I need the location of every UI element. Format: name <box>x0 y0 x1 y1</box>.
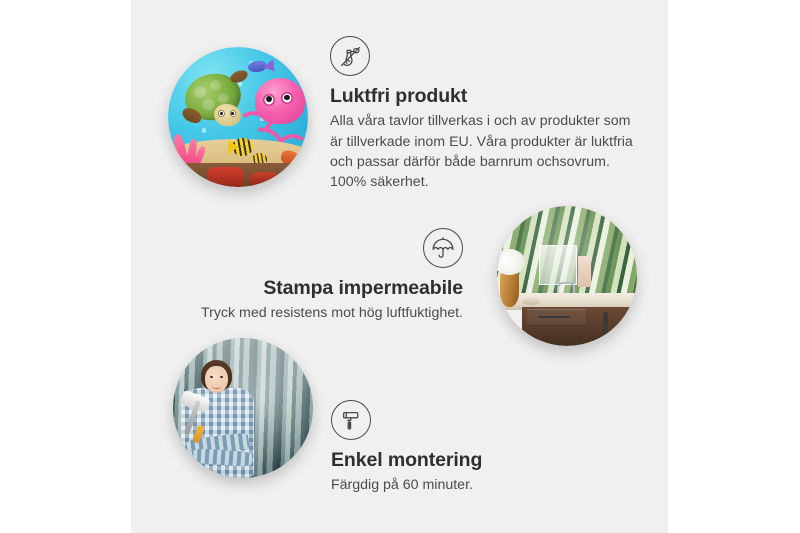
feature-waterproof: Stampa impermeabile Tryck med resistens … <box>178 228 463 324</box>
decorative-vase <box>500 270 520 306</box>
underwater-kids-mural-image <box>168 47 308 187</box>
white-flowers <box>497 249 525 274</box>
feature-description: Alla våra tavlor tillverkas i och av pro… <box>330 111 634 192</box>
smile <box>212 383 222 389</box>
product-feature-banner: Luktfri produkt Alla våra tavlor tillver… <box>0 0 800 533</box>
no-fragrance-icon <box>330 36 370 76</box>
foreground-object <box>207 167 243 187</box>
feature-odourless: Luktfri produkt Alla våra tavlor tillver… <box>330 36 634 192</box>
forest-wallpaper-installer-image <box>173 338 313 478</box>
umbrella-icon <box>423 228 463 268</box>
turtle-eye <box>218 110 224 117</box>
feature-title: Enkel montering <box>331 449 631 471</box>
face <box>205 366 227 393</box>
hanging-towel <box>578 256 591 287</box>
bathroom-tropical-wallpaper-image <box>497 206 637 346</box>
paint-roller-icon <box>331 400 371 440</box>
bathroom-mirror <box>539 245 577 285</box>
feature-description: Tryck med resistens mot hög luftfuktighe… <box>178 303 463 323</box>
feature-assembly: Enkel montering Färgdig på 60 minuter. <box>331 400 631 496</box>
foreground-object <box>249 172 277 187</box>
feature-title: Luktfri produkt <box>330 85 634 107</box>
vanity-cabinet <box>522 307 637 346</box>
turtle-eye <box>230 110 236 117</box>
feature-description: Färgdig på 60 minuter. <box>331 475 631 495</box>
feature-title: Stampa impermeabile <box>178 277 463 299</box>
